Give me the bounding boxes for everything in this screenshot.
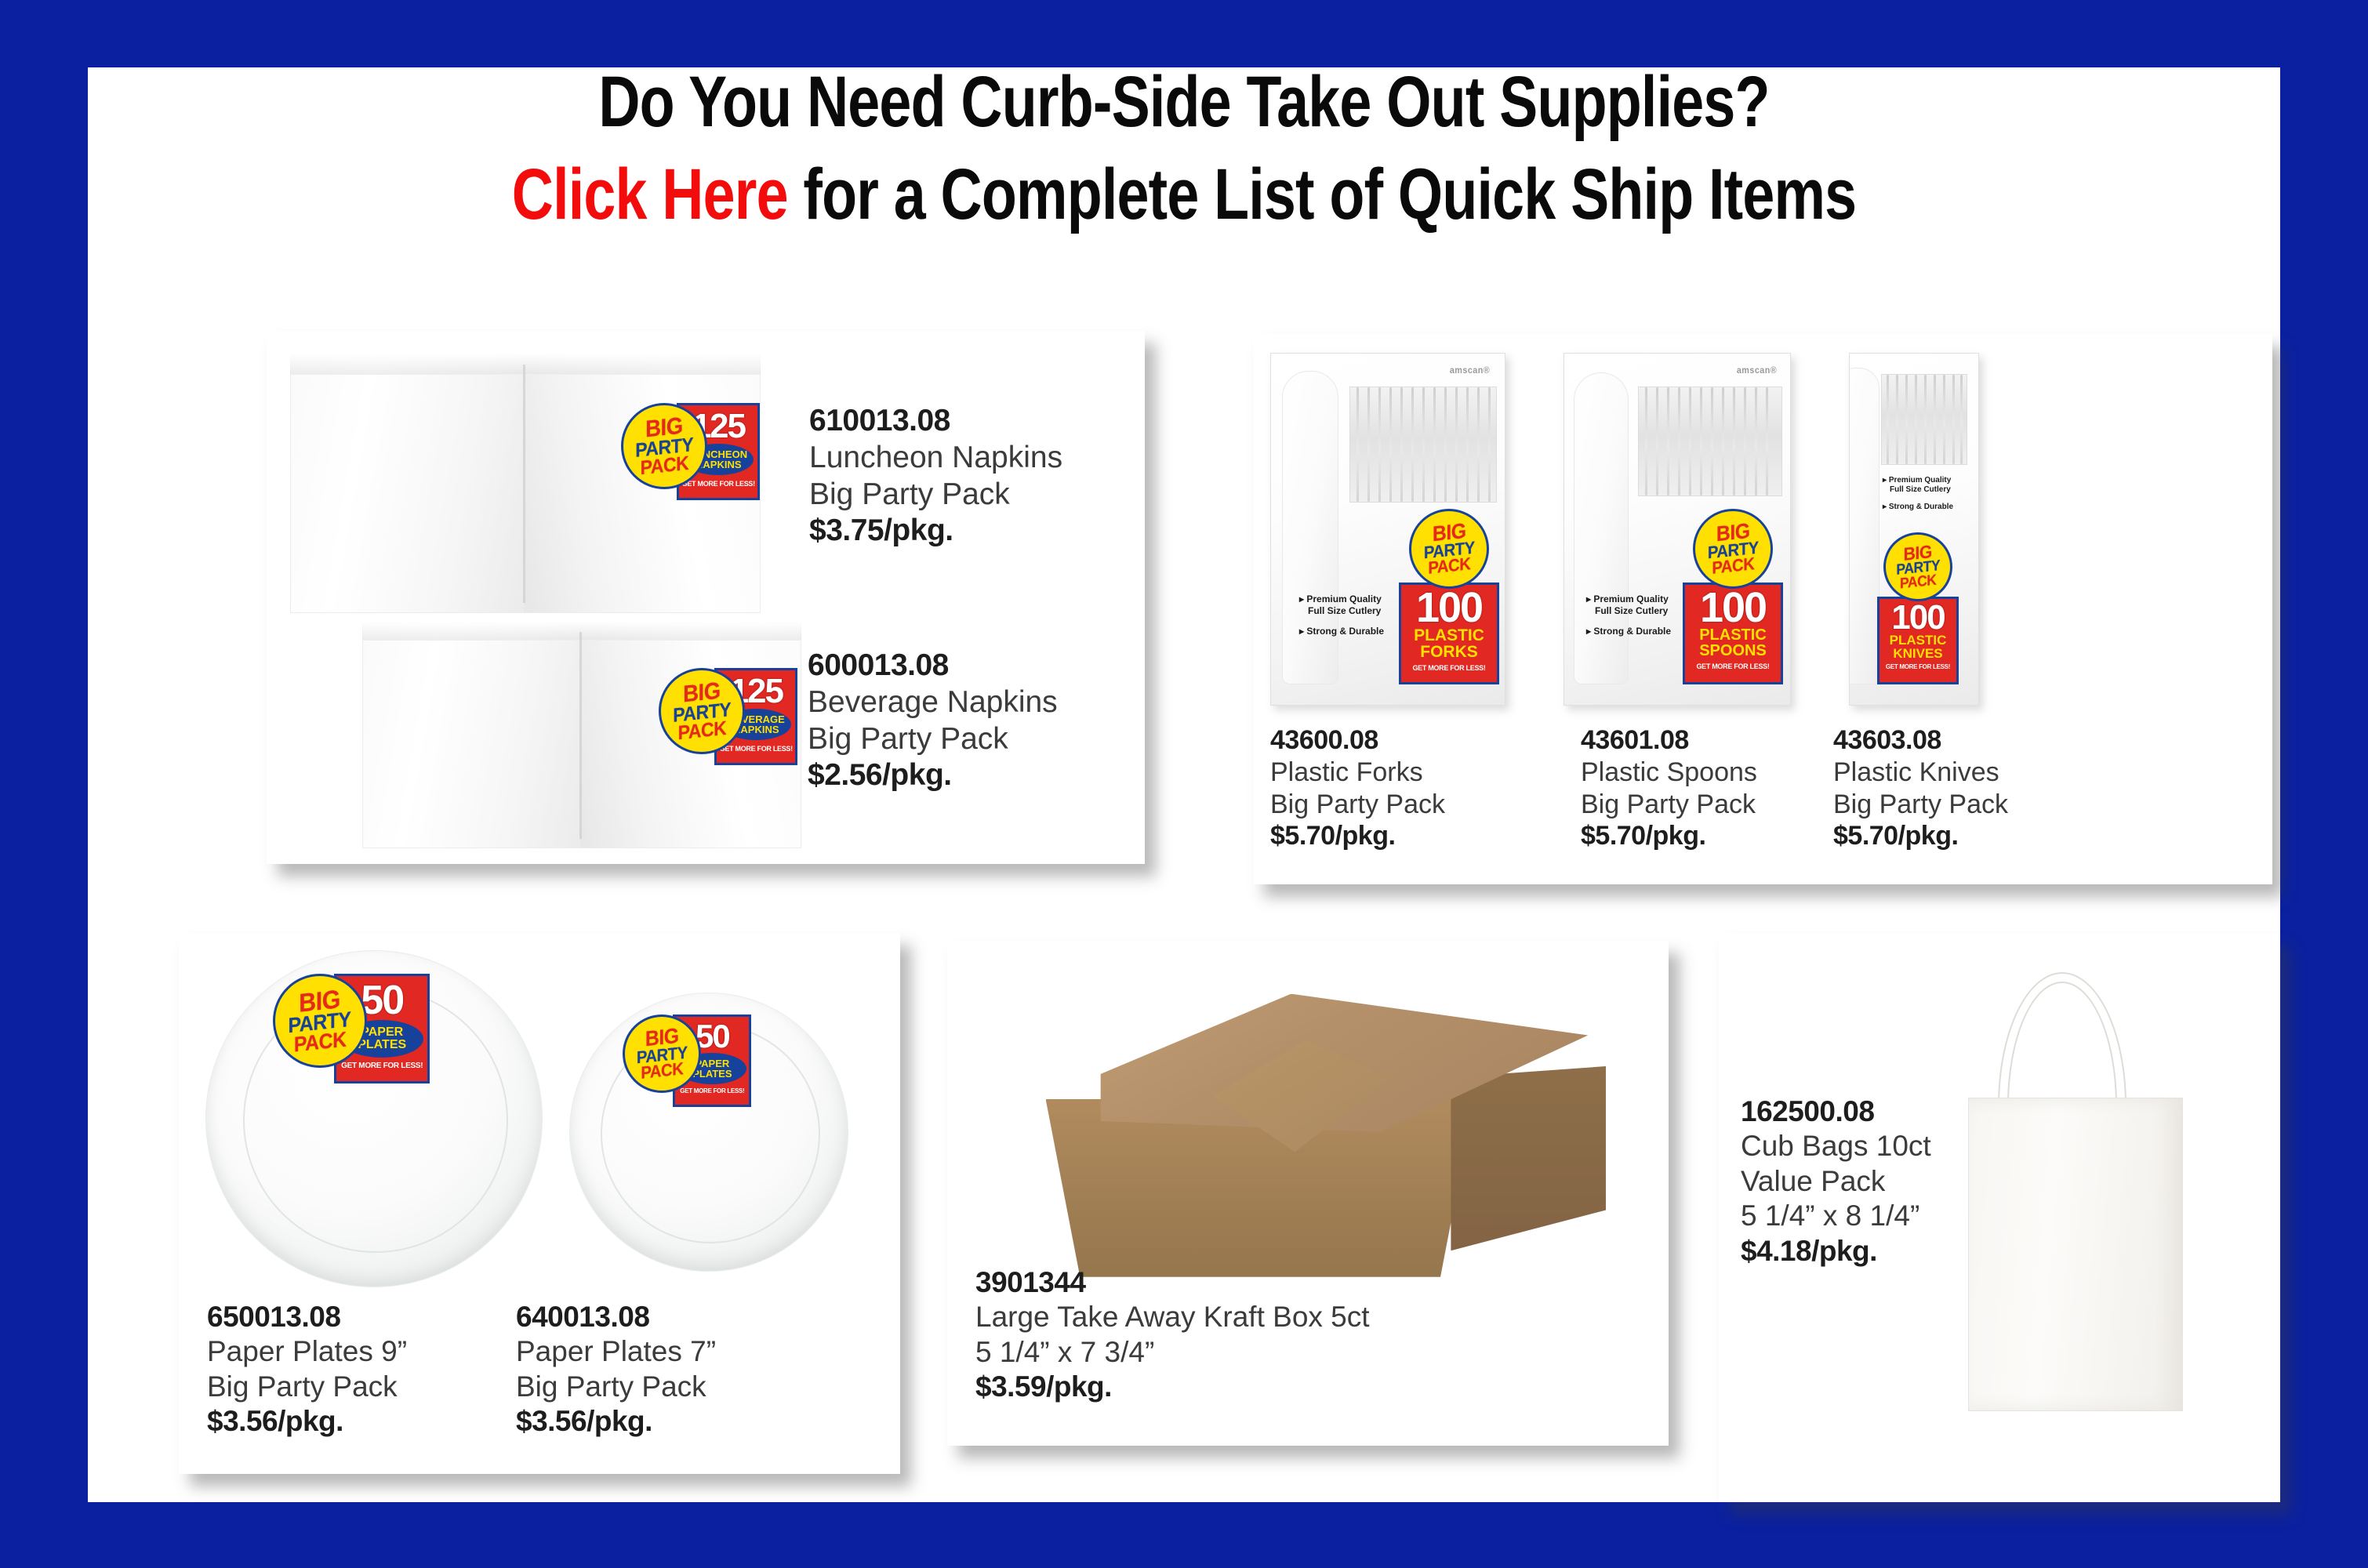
badge-pack-text: PACK	[677, 720, 726, 742]
big-party-pack-circle-icon: BIG PARTY PACK	[1409, 509, 1489, 589]
napkin-center-fold	[579, 632, 582, 840]
product-price: $3.75/pkg.	[809, 513, 1062, 550]
plastic-spoons-package-image: amscan® ▸ Premium Quality Full Size Cutl…	[1564, 353, 1791, 706]
product-subtitle: Big Party Pack	[516, 1370, 716, 1404]
badge-paper-plates-9in: BIG PARTY PACK 50 PAPER PLATES GET MORE …	[273, 974, 422, 1083]
product-info-luncheon-napkins: 610013.08 Luncheon Napkins Big Party Pac…	[809, 403, 1062, 550]
badge-count: 50	[361, 982, 403, 1019]
big-party-pack-circle-icon: BIG PARTY PACK	[1693, 509, 1773, 589]
cub-bag-body	[1968, 1098, 2183, 1411]
fork-window	[1349, 387, 1497, 503]
product-subtitle: Big Party Pack	[1270, 789, 1445, 821]
kraft-box-image	[1010, 967, 1606, 1297]
badge-count-block: 100 PLASTIC KNIVES GET MORE FOR LESS!	[1877, 597, 1959, 684]
product-subtitle: Big Party Pack	[809, 477, 1062, 514]
product-subtitle: Big Party Pack	[1833, 789, 2008, 821]
badge-count: 100	[1700, 589, 1766, 627]
bullet-icon: ▸	[1883, 503, 1887, 511]
badge-luncheon-napkins: BIG PARTY PACK 125 LUNCHEON NAPKINS GET …	[621, 403, 759, 500]
napkin-fold-left	[362, 622, 582, 848]
badge-product-line-1: PLASTIC	[1414, 627, 1484, 644]
product-dimensions: 5 1/4” x 7 3/4”	[975, 1335, 1370, 1370]
bullet-text: Premium Quality	[1889, 476, 1951, 485]
big-party-pack-circle-icon: BIG PARTY PACK	[273, 974, 367, 1068]
bullet-text: Strong & Durable	[1593, 626, 1671, 637]
badge-tagline: GET MORE FOR LESS!	[1412, 664, 1485, 672]
card-cutlery[interactable]: amscan® ▸ Premium Quality Full Size Cutl…	[1253, 334, 2272, 884]
bullet-text: Strong & Durable	[1306, 626, 1384, 637]
badge-count: 100	[1416, 589, 1482, 627]
napkin-top-ridge	[290, 354, 761, 375]
big-party-pack-circle-icon: BIG PARTY PACK	[659, 668, 745, 754]
knife-utensil-icon	[1849, 368, 1880, 684]
product-name: Plastic Knives	[1833, 757, 2008, 789]
badge-pack-text: PACK	[294, 1030, 347, 1055]
cub-bag-image	[1954, 958, 2197, 1444]
badge-product-line-2: KNIVES	[1890, 647, 1947, 660]
big-party-pack-circle-icon: BIG PARTY PACK	[621, 403, 707, 489]
badge-count: 100	[1891, 602, 1944, 633]
badge-product-line-2: PLATES	[358, 1039, 406, 1051]
badge-count-block: 100 PLASTIC SPOONS GET MORE FOR LESS!	[1683, 583, 1783, 684]
bullet-icon: ▸	[1299, 593, 1304, 604]
click-here-link[interactable]: Click Here	[512, 154, 788, 234]
bullet-icon: ▸	[1586, 593, 1591, 604]
package-feature-bullets: ▸ Premium Quality Full Size Cutlery ▸ St…	[1586, 593, 1671, 637]
product-name: Plastic Forks	[1270, 757, 1445, 789]
kraft-box-side-panel	[1451, 1066, 1606, 1250]
badge-product-line-2: SPOONS	[1699, 643, 1767, 659]
badge-plastic-knives: BIG PARTY PACK 100 PLASTIC KNIVES GET MO…	[1876, 532, 1959, 699]
badge-tagline: GET MORE FOR LESS!	[720, 745, 793, 753]
bullet-text: Full Size Cutlery	[1890, 485, 1951, 494]
product-subtitle: Big Party Pack	[207, 1370, 407, 1404]
product-dimensions: 5 1/4” x 8 1/4”	[1741, 1199, 1931, 1233]
amscan-logo: amscan®	[1737, 365, 1777, 376]
badge-pack-text: PACK	[1428, 557, 1470, 577]
plastic-knives-package-image: ▸ Premium Quality Full Size Cutlery ▸ St…	[1849, 353, 1979, 706]
bullet-icon: ▸	[1299, 626, 1304, 637]
badge-count-block: 100 PLASTIC FORKS GET MORE FOR LESS!	[1399, 583, 1499, 684]
product-info-plastic-knives: 43603.08 Plastic Knives Big Party Pack $…	[1833, 724, 2008, 852]
badge-plastic-forks: BIG PARTY PACK 100 PLASTIC FORKS GET MOR…	[1398, 509, 1500, 705]
product-info-plastic-forks: 43600.08 Plastic Forks Big Party Pack $5…	[1270, 724, 1445, 852]
badge-tagline: GET MORE FOR LESS!	[341, 1062, 423, 1070]
product-price: $5.70/pkg.	[1581, 820, 1757, 852]
page-subtitle: Click Here for a Complete List of Quick …	[307, 154, 2061, 236]
badge-product-line-1: PLASTIC	[1890, 633, 1947, 647]
product-name: Luncheon Napkins	[809, 440, 1062, 477]
big-party-pack-circle-icon: BIG PARTY PACK	[623, 1014, 701, 1093]
product-price: $2.56/pkg.	[808, 757, 1058, 794]
fork-utensil-icon	[1282, 371, 1338, 684]
bullet-text: Strong & Durable	[1889, 503, 1953, 511]
product-name: Large Take Away Kraft Box 5ct	[975, 1300, 1370, 1334]
package-feature-bullets: ▸ Premium Quality Full Size Cutlery ▸ St…	[1299, 593, 1384, 637]
product-price: $5.70/pkg.	[1270, 820, 1445, 852]
badge-product-lines: PLASTIC KNIVES	[1890, 633, 1947, 660]
product-sku: 640013.08	[516, 1300, 716, 1334]
knife-window	[1881, 374, 1967, 465]
bullet-text: Premium Quality	[1306, 593, 1381, 604]
badge-product-lines: PLASTIC SPOONS	[1699, 627, 1767, 659]
product-subtitle: Value Pack	[1741, 1164, 1931, 1199]
bullet-icon: ▸	[1883, 476, 1887, 485]
card-kraft-box[interactable]: 3901344 Large Take Away Kraft Box 5ct 5 …	[947, 941, 1669, 1446]
big-party-pack-circle-icon: BIG PARTY PACK	[1883, 532, 1952, 601]
product-sku: 650013.08	[207, 1300, 407, 1334]
product-price: $3.56/pkg.	[516, 1404, 716, 1439]
bullet-text: Premium Quality	[1593, 593, 1668, 604]
product-name: Paper Plates 7”	[516, 1334, 716, 1369]
plastic-forks-package-image: amscan® ▸ Premium Quality Full Size Cutl…	[1270, 353, 1505, 706]
spoon-utensil-icon	[1574, 372, 1629, 684]
product-sku: 43601.08	[1581, 724, 1757, 757]
card-napkins[interactable]: BIG PARTY PACK 125 LUNCHEON NAPKINS GET …	[267, 331, 1145, 864]
promo-poster: Do You Need Curb-Side Take Out Supplies?…	[0, 0, 2368, 1568]
product-info-kraft-box: 3901344 Large Take Away Kraft Box 5ct 5 …	[975, 1265, 1370, 1405]
product-price: $5.70/pkg.	[1833, 820, 2008, 852]
product-sku: 610013.08	[809, 403, 1062, 440]
product-sku: 600013.08	[808, 648, 1058, 684]
badge-pack-text: PACK	[640, 455, 688, 477]
badge-product-line-2: FORKS	[1414, 644, 1484, 660]
badge-plastic-spoons: BIG PARTY PACK 100 PLASTIC SPOONS GET MO…	[1682, 509, 1784, 705]
product-sku: 3901344	[975, 1265, 1370, 1300]
product-info-paper-plates-7in: 640013.08 Paper Plates 7” Big Party Pack…	[516, 1300, 716, 1439]
product-info-cub-bags: 162500.08 Cub Bags 10ct Value Pack 5 1/4…	[1741, 1094, 1931, 1269]
badge-tagline: GET MORE FOR LESS!	[1886, 663, 1950, 670]
product-name: Paper Plates 9”	[207, 1334, 407, 1369]
badge-pack-text: PACK	[641, 1062, 683, 1082]
badge-paper-plates-7in: BIG PARTY PACK 50 PAPER PLATES GET MORE …	[623, 1014, 750, 1107]
badge-pack-text: PACK	[1900, 573, 1936, 590]
product-name: Beverage Napkins	[808, 684, 1058, 721]
badge-product-line-2: PLATES	[692, 1069, 732, 1079]
spoon-window	[1638, 387, 1782, 496]
card-paper-plates[interactable]: BIG PARTY PACK 50 PAPER PLATES GET MORE …	[179, 933, 900, 1474]
product-info-plastic-spoons: 43601.08 Plastic Spoons Big Party Pack $…	[1581, 724, 1757, 852]
product-name: Plastic Spoons	[1581, 757, 1757, 789]
badge-tagline: GET MORE FOR LESS!	[682, 480, 755, 488]
product-sku: 43603.08	[1833, 724, 2008, 757]
badge-pack-text: PACK	[1712, 557, 1754, 577]
badge-product-line-1: PAPER	[361, 1026, 403, 1039]
badge-product-line-1: PLASTIC	[1699, 627, 1767, 643]
amscan-logo: amscan®	[1450, 365, 1490, 376]
napkin-fold-left	[290, 354, 525, 613]
card-cub-bags[interactable]: 162500.08 Cub Bags 10ct Value Pack 5 1/4…	[1719, 933, 2280, 1502]
bullet-text: Full Size Cutlery	[1308, 605, 1381, 616]
napkin-center-fold	[523, 365, 525, 603]
product-name: Cub Bags 10ct	[1741, 1129, 1931, 1163]
subtitle-rest: for a Complete List of Quick Ship Items	[788, 154, 1857, 234]
page-title: Do You Need Curb-Side Take Out Supplies?	[307, 61, 2061, 143]
bullet-icon: ▸	[1586, 626, 1591, 637]
product-price: $3.59/pkg.	[975, 1370, 1370, 1404]
product-info-paper-plates-9in: 650013.08 Paper Plates 9” Big Party Pack…	[207, 1300, 407, 1439]
badge-beverage-napkins: BIG PARTY PACK 125 BEVERAGE NAPKINS GET …	[659, 668, 797, 765]
badge-tagline: GET MORE FOR LESS!	[1696, 662, 1769, 670]
product-subtitle: Big Party Pack	[1581, 789, 1757, 821]
product-sku: 43600.08	[1270, 724, 1445, 757]
product-price: $4.18/pkg.	[1741, 1234, 1931, 1269]
product-info-beverage-napkins: 600013.08 Beverage Napkins Big Party Pac…	[808, 648, 1058, 794]
package-feature-bullets: ▸ Premium Quality Full Size Cutlery ▸ St…	[1883, 476, 1953, 513]
product-sku: 162500.08	[1741, 1094, 1931, 1129]
product-subtitle: Big Party Pack	[808, 721, 1058, 758]
badge-tagline: GET MORE FOR LESS!	[680, 1087, 744, 1094]
badge-product-lines: PLASTIC FORKS	[1414, 627, 1484, 660]
bullet-text: Full Size Cutlery	[1595, 605, 1668, 616]
product-price: $3.56/pkg.	[207, 1404, 407, 1439]
